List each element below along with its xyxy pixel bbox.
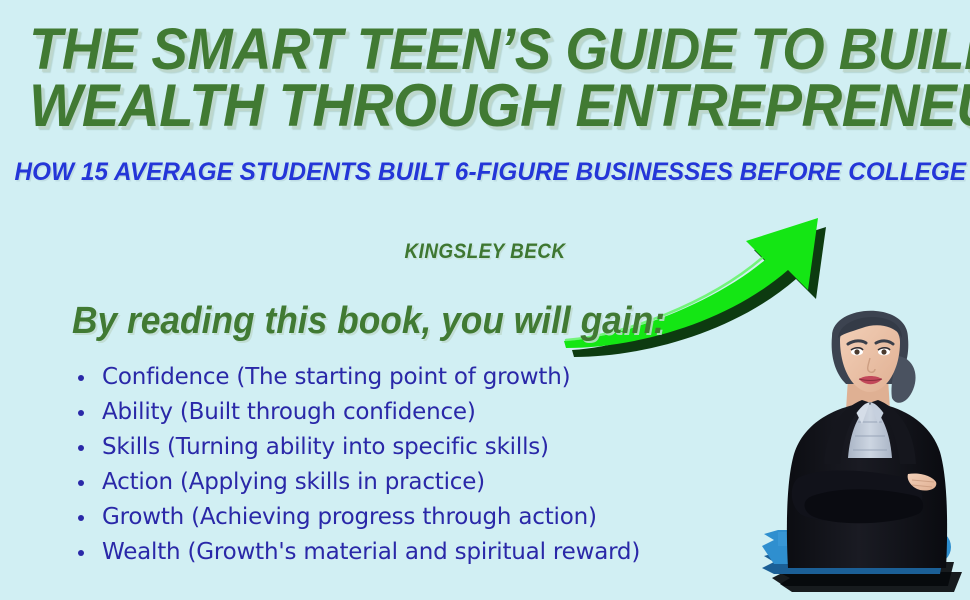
list-item-label: Growth (Achieving progress through actio… <box>102 504 597 530</box>
cover-subtitle: HOW 15 AVERAGE STUDENTS BUILT 6-FIGURE B… <box>15 157 956 187</box>
list-item: Wealth (Growth's material and spiritual … <box>70 535 640 570</box>
list-item-label: Wealth (Growth's material and spiritual … <box>102 539 640 565</box>
title-line-2: WEALTH THROUGH ENTREPRENEURSHIP <box>29 78 941 134</box>
list-item: Skills (Turning ability into specific sk… <box>70 430 640 465</box>
book-cover: THE SMART TEEN’S GUIDE TO BUILDING WEALT… <box>0 0 970 600</box>
list-item: Action (Applying skills in practice) <box>70 465 640 500</box>
list-item: Growth (Achieving progress through actio… <box>70 500 640 535</box>
cover-title: THE SMART TEEN’S GUIDE TO BUILDING WEALT… <box>0 22 970 134</box>
list-item: Confidence (The starting point of growth… <box>70 360 640 395</box>
bullet-icon <box>78 550 84 556</box>
businesswoman-arms-crossed <box>770 282 965 600</box>
list-item-label: Action (Applying skills in practice) <box>102 469 485 495</box>
author-name: KINGSLEY BECK <box>49 240 922 264</box>
list-item-label: Skills (Turning ability into specific sk… <box>102 434 549 460</box>
title-line-1: THE SMART TEEN’S GUIDE TO BUILDING <box>29 22 941 78</box>
bullet-icon <box>78 375 84 381</box>
benefits-list: Confidence (The starting point of growth… <box>70 360 640 570</box>
bullet-icon <box>78 515 84 521</box>
list-item-label: Confidence (The starting point of growth… <box>102 364 570 390</box>
list-item: Ability (Built through confidence) <box>70 395 640 430</box>
bullet-icon <box>78 445 84 451</box>
bullet-icon <box>78 480 84 486</box>
list-item-label: Ability (Built through confidence) <box>102 399 476 425</box>
bullet-icon <box>78 410 84 416</box>
benefits-heading: By reading this book, you will gain: <box>72 300 665 342</box>
